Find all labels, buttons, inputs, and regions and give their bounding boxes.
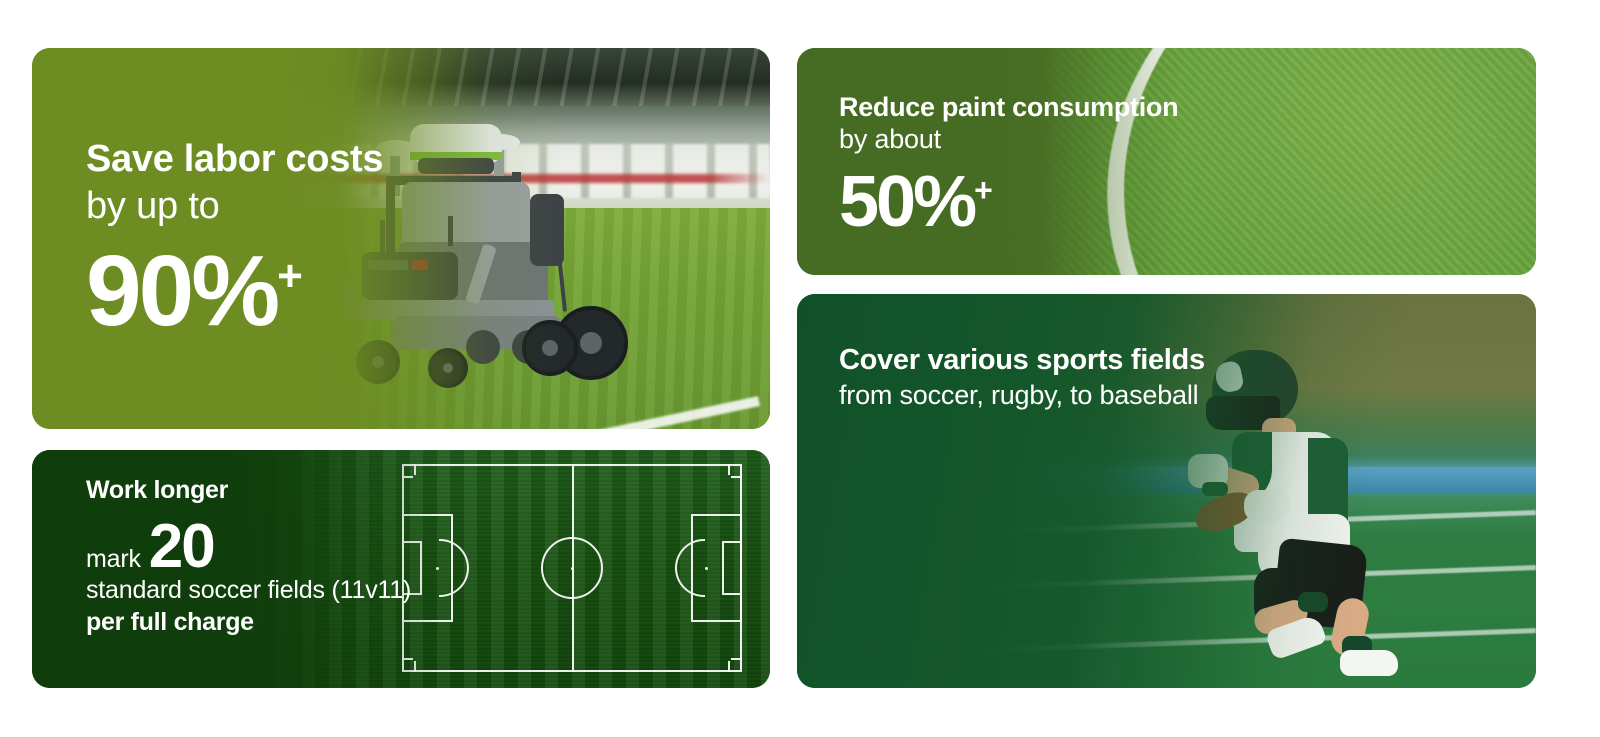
card-save-labor-costs[interactable]: Save labor costs by up to 90%+ [32,48,770,429]
card-cover-sports-fields[interactable]: Cover various sports fields from soccer,… [797,294,1536,688]
sports-subline: from soccer, rugby, to baseball [839,380,1205,410]
labor-subline: by up to [86,185,383,228]
labor-stat: 90%+ [86,241,383,341]
card-work-longer[interactable]: Work longer mark 20 standard soccer fiel… [32,450,770,688]
card-text-block: Work longer mark 20 standard soccer fiel… [86,476,446,636]
card-text-block: Reduce paint consumption by about 50%+ [839,92,1178,238]
feature-cards-layout: Save labor costs by up to 90%+ [0,0,1600,737]
card-text-block: Save labor costs by up to 90%+ [86,138,383,341]
paint-stat-value: 50% [839,162,974,242]
work-stat-row: mark 20 [86,516,446,578]
work-detail: standard soccer fields (11v11) [86,576,446,604]
paint-subline: by about [839,124,1178,154]
card-reduce-paint-consumption[interactable]: Reduce paint consumption by about 50%+ [797,48,1536,275]
work-stat-prefix: mark [86,545,141,573]
labor-stat-value: 90% [86,235,277,347]
paint-headline: Reduce paint consumption [839,92,1178,122]
labor-headline: Save labor costs [86,138,383,181]
sports-headline: Cover various sports fields [839,344,1205,376]
paint-stat: 50%+ [839,166,1178,238]
work-emphasis: per full charge [86,608,446,636]
labor-stat-suffix: + [277,252,303,301]
work-stat-value: 20 [149,516,214,578]
card-text-block: Cover various sports fields from soccer,… [839,344,1205,411]
work-headline: Work longer [86,476,446,504]
paint-stat-suffix: + [974,172,993,208]
